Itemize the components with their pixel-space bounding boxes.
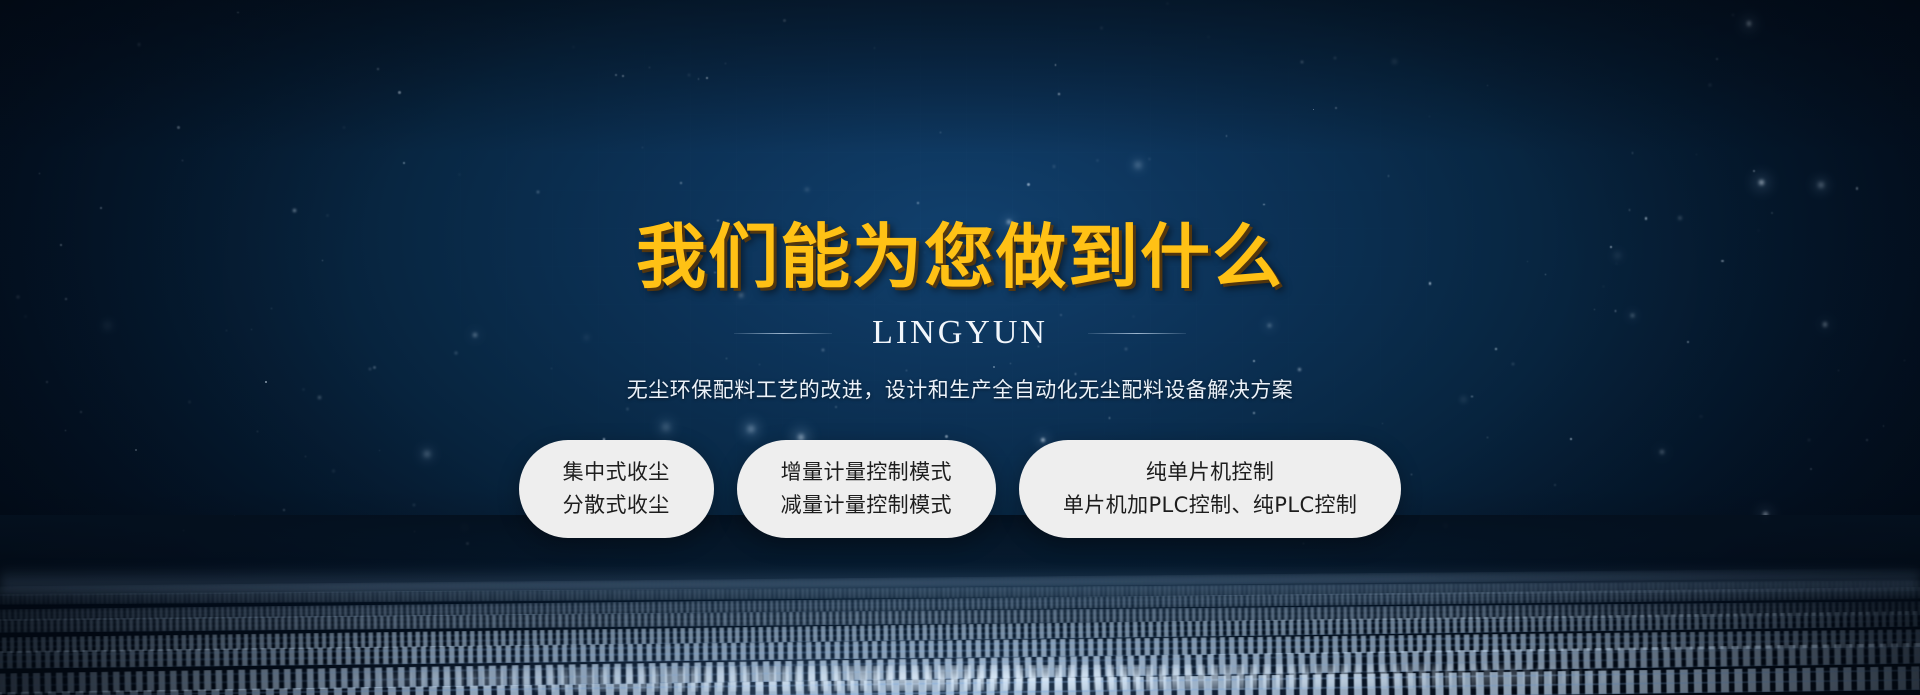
- rule-right-icon: [1088, 333, 1186, 334]
- pill-line-2: 分散式收尘: [563, 495, 670, 516]
- pill-line-1: 集中式收尘: [563, 462, 670, 483]
- pill-line-2: 减量计量控制模式: [781, 495, 952, 516]
- page-title: 我们能为您做到什么: [636, 222, 1284, 292]
- feature-pill-control-system[interactable]: 纯单片机控制 单片机加PLC控制、纯PLC控制: [1019, 440, 1401, 538]
- pill-line-1: 增量计量控制模式: [781, 462, 952, 483]
- pill-line-2: 单片机加PLC控制、纯PLC控制: [1063, 495, 1357, 516]
- hero-banner: 我们能为您做到什么 LINGYUN 无尘环保配料工艺的改进，设计和生产全自动化无…: [0, 0, 1920, 695]
- banner-description: 无尘环保配料工艺的改进，设计和生产全自动化无尘配料设备解决方案: [627, 374, 1294, 404]
- banner-content: 我们能为您做到什么 LINGYUN 无尘环保配料工艺的改进，设计和生产全自动化无…: [0, 0, 1920, 695]
- rule-left-icon: [734, 333, 832, 334]
- brand-subtitle: LINGYUN: [872, 314, 1048, 352]
- subtitle-row: LINGYUN: [734, 314, 1186, 352]
- pill-line-1: 纯单片机控制: [1146, 462, 1274, 483]
- feature-pill-metering-mode[interactable]: 增量计量控制模式 减量计量控制模式: [737, 440, 996, 538]
- feature-pill-list: 集中式收尘 分散式收尘 增量计量控制模式 减量计量控制模式 纯单片机控制 单片机…: [519, 440, 1402, 538]
- feature-pill-dust-collection[interactable]: 集中式收尘 分散式收尘: [519, 440, 714, 538]
